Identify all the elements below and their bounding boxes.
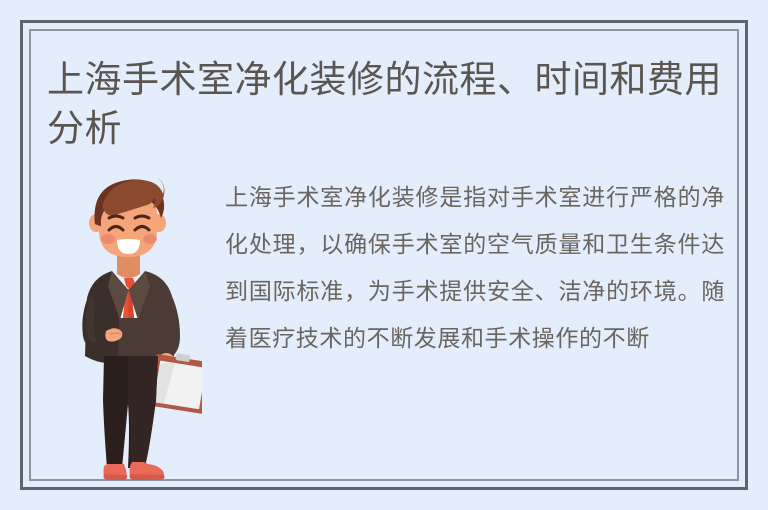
businessman-illustration <box>62 168 202 484</box>
page-title: 上海手术室净化装修的流程、时间和费用分析 <box>47 55 727 153</box>
page-root: 上海手术室净化装修的流程、时间和费用分析 <box>0 0 768 510</box>
article-body: 上海手术室净化装修是指对手术室进行严格的净化处理，以确保手术室的空气质量和卫生条… <box>225 174 725 362</box>
